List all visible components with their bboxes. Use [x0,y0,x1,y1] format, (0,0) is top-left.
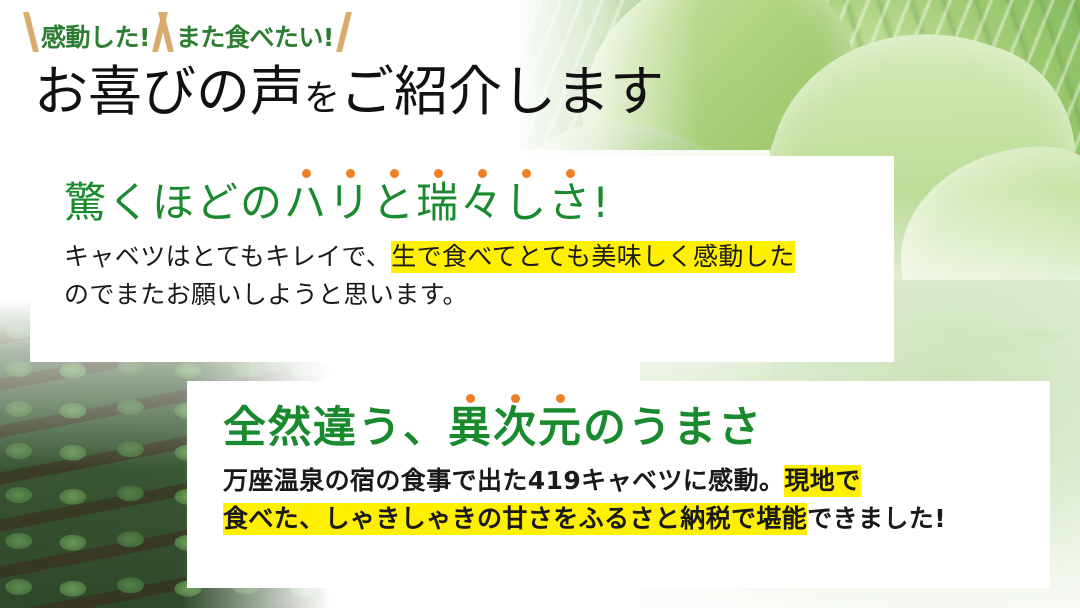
emphasis-dot-char: さ [548,182,592,224]
page-title-main: お喜びの声 [34,60,304,123]
headline-plain: 全然違う、 [223,403,448,453]
body-text: 万座温泉の宿の食事で出た419キャベツに感動。 [223,466,784,495]
body-text: できました! [807,504,946,533]
page-title-tail: ご紹介します [340,60,664,123]
testimonial-body-2: 万座温泉の宿の食事で出た419キャベツに感動。現地で 食べた、しゃきしゃきの甘さ… [223,462,1020,538]
testimonial-body-line: 万座温泉の宿の食事で出た419キャベツに感動。現地で [223,462,1020,500]
headline-emphasis: 異次元 [448,403,583,453]
emphasis-dot-char: 々 [460,182,504,224]
page-title-particle: を [304,78,340,119]
eyebrow-badge-matatabetai: また食べたい! [163,12,347,52]
testimonial-body-line: のでまたお願いしようと思います。 [64,276,864,314]
testimonial-banner: 感動した! また食べたい! お喜びの声をご紹介します 驚くほどのハリと瑞々しさ!… [0,0,1080,608]
testimonial-body-line: キャベツはとてもキレイで、生で食べてとても美味しく感動した [64,238,864,276]
testimonial-card-2: 全然違う、異次元のうまさ 万座温泉の宿の食事で出た419キャベツに感動。現地で … [187,381,1050,588]
page-title: お喜びの声をご紹介します [34,62,664,122]
testimonial-body-1: キャベツはとてもキレイで、生で食べてとても美味しく感動した のでまたお願いしよう… [64,238,864,314]
emphasis-dot-char: 次 [493,407,538,450]
headline-plain: 驚くほどの [64,178,284,227]
eyebrow-badge-label: また食べたい! [169,25,341,52]
testimonial-headline-2: 全然違う、異次元のうまさ [223,407,1020,450]
emphasis-dot-char: 異 [448,407,493,450]
eyebrow-badge-kandou: 感動した! [28,12,163,52]
eyebrow-badge-group: 感動した! また食べたい! [28,12,347,52]
eyebrow-badge-label: 感動した! [34,25,157,52]
highlighted-text: 食べた、しゃきしゃきの甘さをふるさと納税で堪能 [223,503,807,535]
headline-plain: のうまさ [583,403,763,453]
highlighted-text: 生で食べてとても美味しく感動した [391,241,794,273]
headline-emphasis: ハリと瑞々しさ [284,178,592,227]
testimonial-body-line: 食べた、しゃきしゃきの甘さをふるさと納税で堪能できました! [223,500,1020,538]
emphasis-dot-char: し [504,182,548,224]
emphasis-dot-char: 瑞 [416,182,460,224]
body-text: キャベツはとてもキレイで、 [64,242,391,271]
emphasis-dot-char: 元 [538,407,583,450]
emphasis-dot-char: リ [328,182,372,224]
testimonial-card-1: 驚くほどのハリと瑞々しさ! キャベツはとてもキレイで、生で食べてとても美味しく感… [30,156,894,362]
highlighted-text: 現地で [784,465,860,497]
emphasis-dot-char: と [372,182,416,224]
headline-plain: ! [592,178,611,227]
testimonial-headline-1: 驚くほどのハリと瑞々しさ! [64,182,864,224]
emphasis-dot-char: ハ [284,182,328,224]
